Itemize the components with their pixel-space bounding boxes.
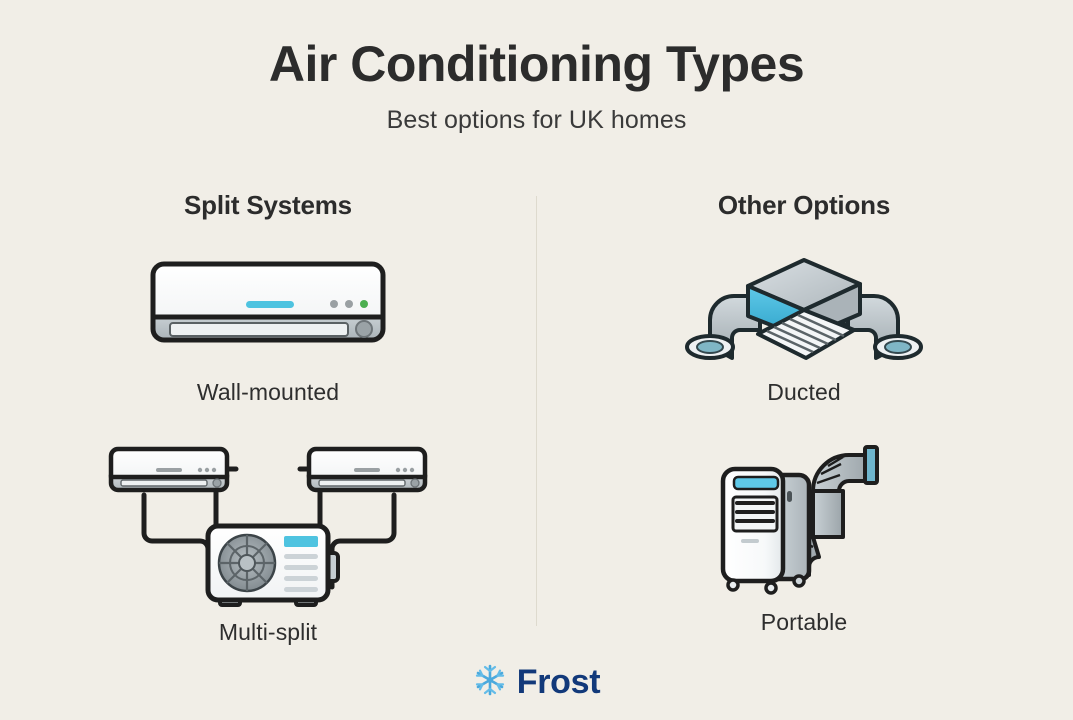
wall-mounted-ac-illustration (148, 245, 388, 373)
item-wall-mounted[interactable]: Wall-mounted (148, 245, 388, 406)
brand-footer: Frost (0, 663, 1073, 702)
item-portable[interactable]: Portable (709, 428, 899, 636)
item-label-wall-mounted: Wall-mounted (197, 379, 339, 406)
item-ducted[interactable]: Ducted (674, 245, 934, 406)
column-other-options: Other Options (536, 190, 1072, 646)
page-title: Air Conditioning Types (0, 38, 1073, 91)
item-label-multi-split: Multi-split (219, 619, 317, 646)
column-heading-other-options: Other Options (718, 190, 890, 221)
column-split-systems: Split Systems (0, 190, 536, 646)
item-label-portable: Portable (761, 609, 847, 636)
multi-split-ac-illustration (108, 438, 428, 613)
portable-ac-illustration (709, 428, 899, 603)
ducted-ac-illustration (674, 245, 934, 373)
snowflake-icon (473, 663, 507, 702)
header: Air Conditioning Types Best options for … (0, 0, 1073, 135)
page-subtitle: Best options for UK homes (0, 106, 1073, 135)
item-label-ducted: Ducted (767, 379, 840, 406)
column-heading-split-systems: Split Systems (184, 190, 352, 221)
infographic-poster: Air Conditioning Types Best options for … (0, 0, 1073, 720)
brand-name: Frost (517, 663, 601, 702)
columns-container: Split Systems (0, 190, 1073, 646)
item-multi-split[interactable]: Multi-split (108, 438, 428, 646)
